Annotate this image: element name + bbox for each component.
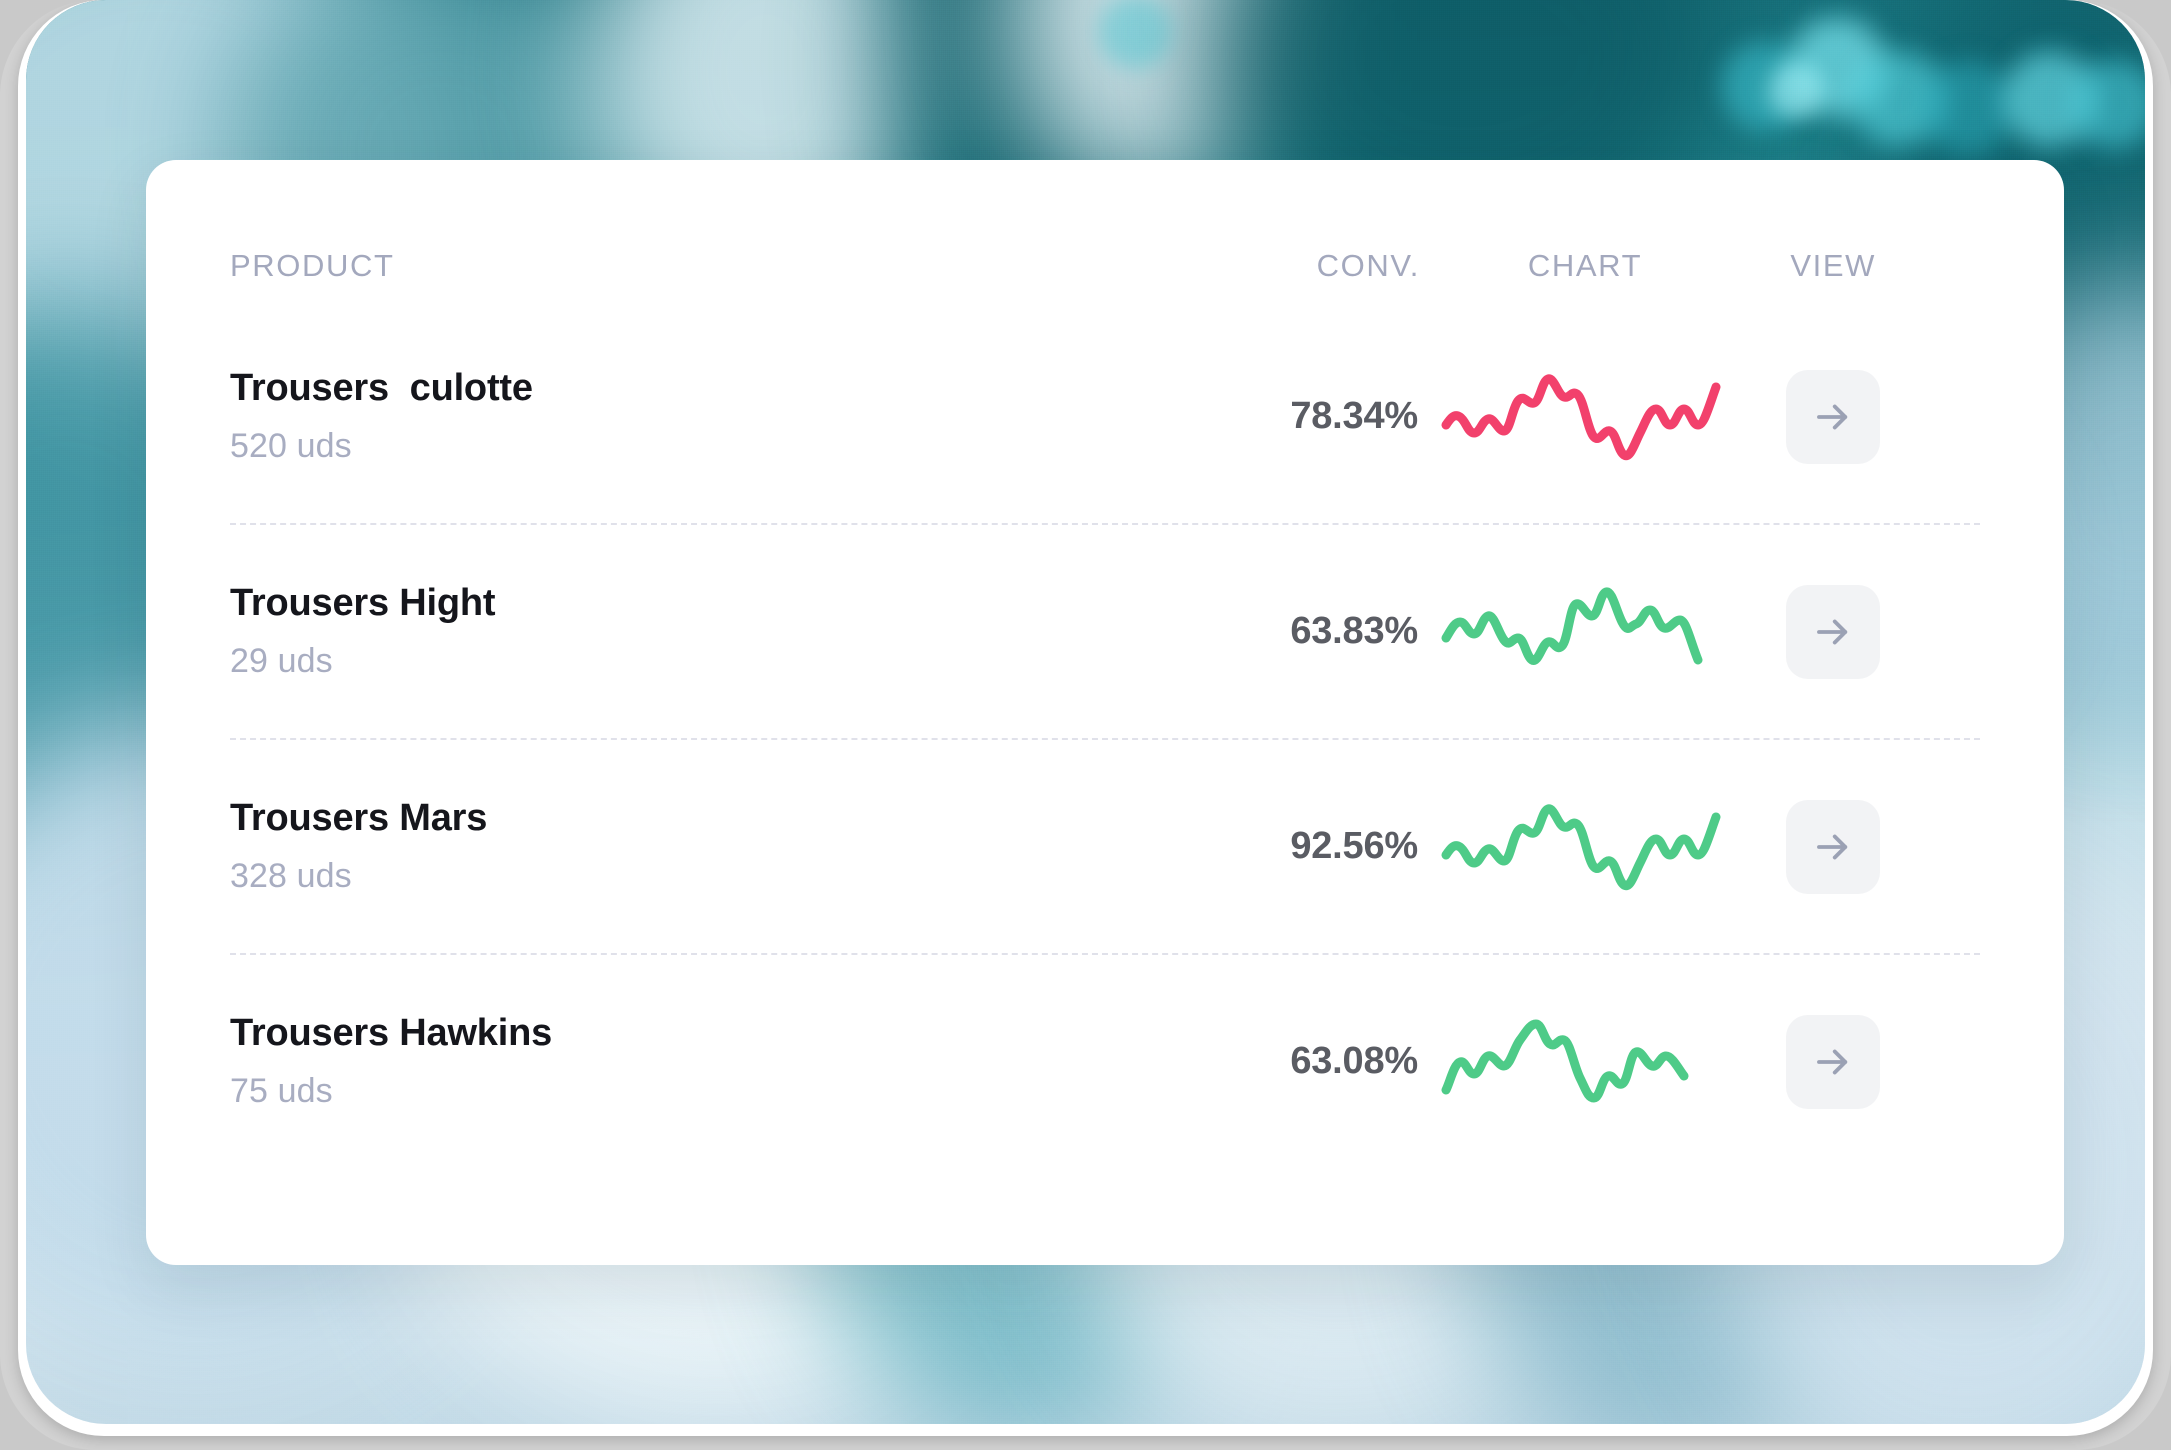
product-units: 328 uds (230, 857, 1130, 896)
view-cell (1750, 585, 1880, 679)
view-row-button[interactable] (1786, 800, 1880, 894)
view-cell (1750, 1015, 1880, 1109)
sparkline-cell[interactable] (1420, 1014, 1750, 1110)
column-header-product[interactable]: PRODUCT (230, 248, 1130, 284)
product-name: Trousers Mars (230, 797, 1130, 841)
product-name: Trousers Hight (230, 582, 1130, 626)
sparkline-cell[interactable] (1420, 584, 1750, 680)
view-cell (1750, 370, 1880, 464)
table-row[interactable]: Trousers Mars 328 uds 92.56% (230, 740, 1980, 953)
table-row[interactable]: Trousers culotte 520 uds 78.34% (230, 310, 1980, 523)
arrow-right-icon (1812, 1041, 1854, 1083)
view-cell (1750, 800, 1880, 894)
product-name: Trousers culotte (230, 367, 1130, 411)
product-cell: Trousers Hawkins 75 uds (230, 1012, 1130, 1111)
product-performance-card: PRODUCT CONV. CHART VIEW Trousers culott… (146, 160, 2064, 1265)
sparkline-chart (1440, 584, 1730, 680)
conversion-value: 92.56% (1130, 825, 1420, 868)
sparkline-chart (1440, 369, 1730, 465)
view-row-button[interactable] (1786, 1015, 1880, 1109)
sparkline-cell[interactable] (1420, 799, 1750, 895)
arrow-right-icon (1812, 396, 1854, 438)
product-units: 75 uds (230, 1072, 1130, 1111)
conversion-value: 78.34% (1130, 395, 1420, 438)
sparkline-cell[interactable] (1420, 369, 1750, 465)
device-bezel: PRODUCT CONV. CHART VIEW Trousers culott… (18, 0, 2153, 1436)
product-cell: Trousers culotte 520 uds (230, 367, 1130, 466)
view-row-button[interactable] (1786, 370, 1880, 464)
arrow-right-icon (1812, 826, 1854, 868)
table-row[interactable]: Trousers Hawkins 75 uds 63.08% (230, 955, 1980, 1168)
device-frame: PRODUCT CONV. CHART VIEW Trousers culott… (0, 0, 2171, 1450)
view-row-button[interactable] (1786, 585, 1880, 679)
conversion-value: 63.83% (1130, 610, 1420, 653)
column-header-view[interactable]: VIEW (1750, 248, 1880, 284)
product-cell: Trousers Mars 328 uds (230, 797, 1130, 896)
conversion-value: 63.08% (1130, 1040, 1420, 1083)
sparkline-chart (1440, 799, 1730, 895)
column-header-conversion[interactable]: CONV. (1130, 248, 1420, 284)
product-units: 520 uds (230, 427, 1130, 466)
product-name: Trousers Hawkins (230, 1012, 1130, 1056)
table-row[interactable]: Trousers Hight 29 uds 63.83% (230, 525, 1980, 738)
table-header-row: PRODUCT CONV. CHART VIEW (230, 160, 1980, 310)
column-header-chart[interactable]: CHART (1420, 248, 1750, 284)
product-units: 29 uds (230, 642, 1130, 681)
sparkline-chart (1440, 1014, 1730, 1110)
arrow-right-icon (1812, 611, 1854, 653)
product-cell: Trousers Hight 29 uds (230, 582, 1130, 681)
